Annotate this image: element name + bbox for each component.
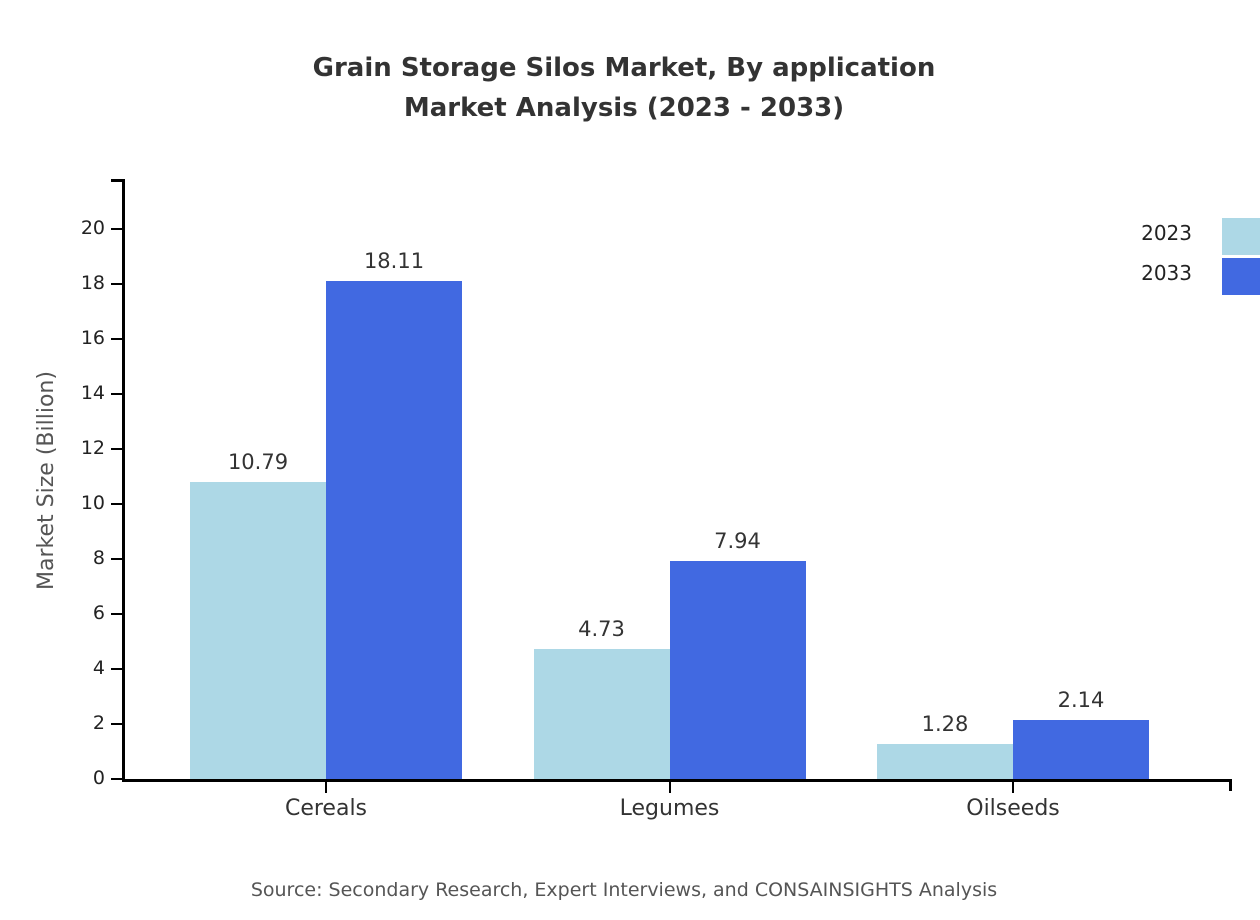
x-axis-tick bbox=[1012, 782, 1014, 793]
y-axis-tick-label: 18 bbox=[35, 274, 105, 293]
chart-legend: 20232033 bbox=[1100, 215, 1260, 305]
y-axis-tick bbox=[111, 723, 122, 725]
legend-item-2023[interactable]: 2023 bbox=[1100, 215, 1260, 255]
legend-label: 2023 bbox=[1141, 223, 1192, 243]
chart-title-line-1: Grain Storage Silos Market, By applicati… bbox=[0, 48, 1254, 88]
bar-value-label: 2.14 bbox=[1001, 690, 1161, 711]
y-axis-tick bbox=[111, 393, 122, 395]
bar-legumes-2023 bbox=[534, 649, 670, 779]
bar-oilseeds-2023 bbox=[877, 744, 1013, 779]
bar-value-label: 10.79 bbox=[178, 452, 338, 473]
x-axis-category-label: Oilseeds bbox=[883, 796, 1143, 822]
x-axis-line bbox=[122, 779, 1232, 782]
bar-value-label: 4.73 bbox=[522, 619, 682, 640]
bar-cereals-2033 bbox=[326, 281, 462, 779]
y-axis-tick-label: 0 bbox=[35, 769, 105, 788]
x-axis-category-label: Legumes bbox=[540, 796, 800, 822]
y-axis-tick-label: 20 bbox=[35, 219, 105, 238]
y-axis-tick bbox=[111, 228, 122, 230]
y-axis-tick bbox=[111, 448, 122, 450]
y-axis-tick-label: 4 bbox=[35, 659, 105, 678]
y-axis-tick-label: 10 bbox=[35, 494, 105, 513]
legend-label: 2033 bbox=[1141, 263, 1192, 283]
legend-item-2033[interactable]: 2033 bbox=[1100, 255, 1260, 295]
source-note: Source: Secondary Research, Expert Inter… bbox=[0, 878, 1254, 902]
y-axis-tick bbox=[111, 778, 122, 780]
legend-swatch bbox=[1222, 258, 1260, 295]
legend-swatch bbox=[1222, 218, 1260, 255]
bar-value-label: 7.94 bbox=[658, 531, 818, 552]
bars-layer: 10.7918.114.737.941.282.14 bbox=[122, 179, 1232, 779]
x-axis-tick bbox=[669, 782, 671, 793]
y-axis-tick-label: 16 bbox=[35, 329, 105, 348]
y-axis-tick-label: 8 bbox=[35, 549, 105, 568]
x-axis-tick bbox=[325, 782, 327, 793]
bar-value-label: 1.28 bbox=[865, 714, 1025, 735]
y-axis-tick-label: 6 bbox=[35, 604, 105, 623]
y-axis-tick bbox=[111, 503, 122, 505]
bar-value-label: 18.11 bbox=[314, 251, 474, 272]
y-axis-tick-label: 2 bbox=[35, 714, 105, 733]
bar-oilseeds-2033 bbox=[1013, 720, 1149, 779]
y-axis-title: Market Size (Billion) bbox=[34, 179, 59, 782]
chart-title: Grain Storage Silos Market, By applicati… bbox=[0, 48, 1254, 128]
y-axis-tick bbox=[111, 613, 122, 615]
bar-cereals-2023 bbox=[190, 482, 326, 779]
x-axis-category-label: Cereals bbox=[196, 796, 456, 822]
y-axis-tick bbox=[111, 668, 122, 670]
bar-legumes-2033 bbox=[670, 561, 806, 779]
y-axis-tick-label: 14 bbox=[35, 384, 105, 403]
bar-chart-figure: Grain Storage Silos Market, By applicati… bbox=[0, 0, 1260, 920]
y-axis-tick bbox=[111, 283, 122, 285]
y-axis-tick-label: 12 bbox=[35, 439, 105, 458]
x-axis-right-cap bbox=[1229, 779, 1232, 791]
chart-title-line-2: Market Analysis (2023 - 2033) bbox=[0, 88, 1254, 128]
plot-area: 02468101214161820 10.7918.114.737.941.28… bbox=[122, 179, 1232, 782]
y-axis-tick bbox=[111, 558, 122, 560]
y-axis-tick bbox=[111, 338, 122, 340]
